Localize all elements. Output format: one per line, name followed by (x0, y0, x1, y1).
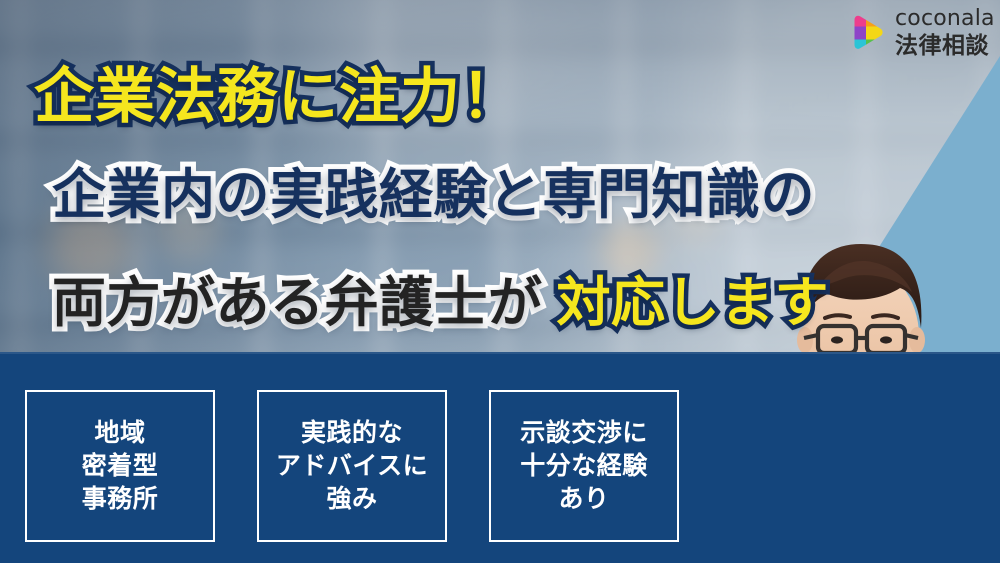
feature-box-group: 地域 密着型 事務所 実践的な アドバイスに 強み 示談交渉に 十分な経験 あり (25, 390, 679, 542)
feature-box-2: 実践的な アドバイスに 強み (257, 390, 447, 542)
feature-1-line-3: 事務所 (82, 485, 159, 513)
feature-3-line-2: 十分な経験 (520, 452, 648, 480)
headline-line-2: 企業内の実践経験と専門知識の (52, 150, 815, 229)
logo-subtitle: 法律相談 (895, 34, 995, 57)
coconala-triangle-logo-icon (846, 13, 886, 53)
headline-line-3-dark: 両方がある弁護士が (52, 258, 543, 337)
feature-2-line-2: アドバイスに (276, 452, 428, 480)
feature-3-line-3: あり (558, 485, 609, 513)
feature-box-1: 地域 密着型 事務所 (25, 390, 215, 542)
logo-name: coconala (895, 8, 995, 30)
logo-wordmark: coconala 法律相談 (895, 8, 995, 57)
coconala-logo[interactable]: coconala 法律相談 (846, 8, 995, 57)
kv-banner: coconala 法律相談 企業法務に注力！ 企業内の実践経験と専門知識の 両方… (0, 0, 1000, 563)
feature-1-line-2: 密着型 (82, 452, 159, 480)
feature-box-3: 示談交渉に 十分な経験 あり (489, 390, 679, 542)
feature-3-line-1: 示談交渉に (520, 419, 648, 447)
headline-line-3: 両方がある弁護士が 対応します (52, 258, 829, 337)
feature-2-line-3: 強み (326, 485, 377, 513)
feature-1-line-1: 地域 (94, 419, 145, 447)
feature-2-line-1: 実践的な (301, 419, 403, 447)
headline-line-1: 企業法務に注力！ (34, 48, 522, 135)
headline-line-3-accent: 対応します (557, 258, 830, 337)
